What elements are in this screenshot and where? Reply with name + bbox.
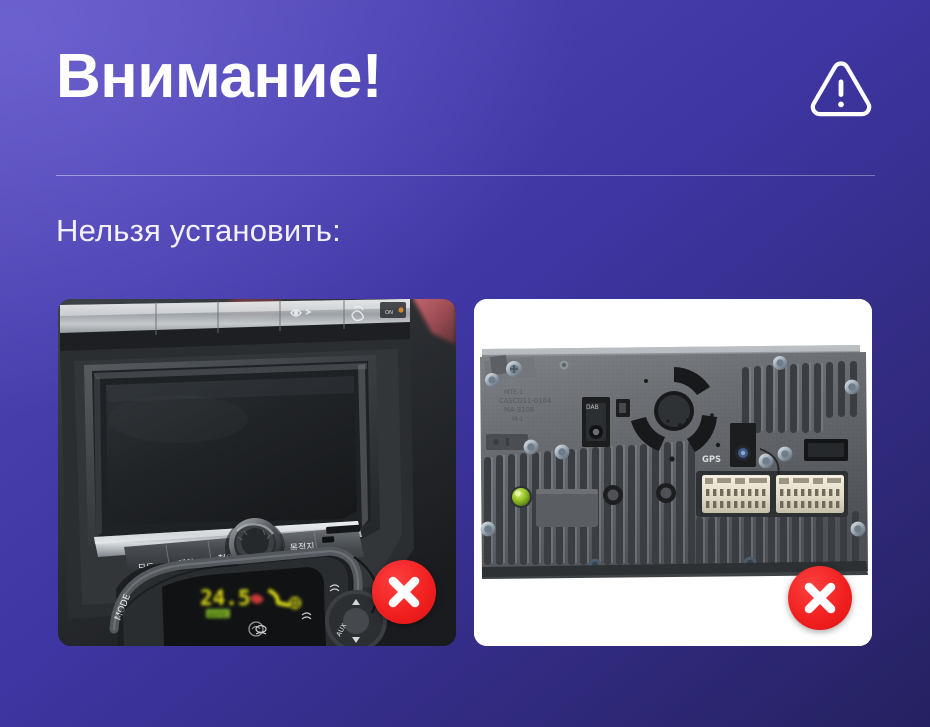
photo-panels: ON <box>58 299 872 646</box>
svg-text:M-1: M-1 <box>512 416 524 423</box>
forbidden-badge-right <box>788 566 852 630</box>
section-subtitle: Нельзя установить: <box>56 213 341 249</box>
svg-text:ON: ON <box>385 310 393 316</box>
green-led-indicator <box>512 488 530 506</box>
climate-temperature: 24.5 <box>200 586 251 610</box>
climate-auto: AUTO <box>208 612 227 619</box>
warning-triangle-icon <box>807 54 875 122</box>
car-dashboard-photo: ON <box>58 299 456 646</box>
climate-unit: ° <box>244 590 249 600</box>
dab-label: DAB <box>586 404 599 411</box>
svg-text:CASCO11-0104: CASCO11-0104 <box>499 397 551 405</box>
slide-root: Внимание! Нельзя установить: <box>0 0 930 727</box>
gps-label: GPS <box>702 454 721 464</box>
header-divider <box>56 175 875 176</box>
forbidden-badge-left <box>372 560 436 624</box>
head-unit-rear-photo: MTE-1 CASCO11-0104 MA-3108 M-1 <box>474 299 872 646</box>
page-title: Внимание! <box>56 44 382 109</box>
svg-text:MA-3108: MA-3108 <box>504 406 534 414</box>
header: Внимание! <box>56 44 875 174</box>
svg-text:MTE-1: MTE-1 <box>504 389 523 396</box>
